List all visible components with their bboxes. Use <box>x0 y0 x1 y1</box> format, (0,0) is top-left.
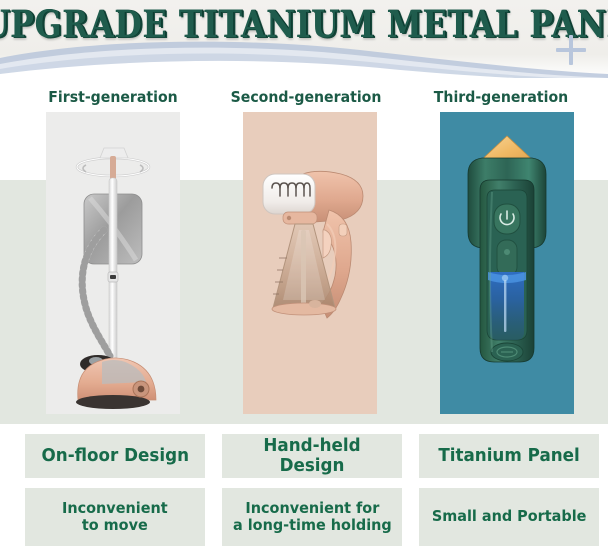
drawback-row: Inconvenient to move Inconvenient for a … <box>0 488 608 548</box>
drawback-label-third-generation: Small and Portable <box>432 508 587 525</box>
titanium-panel-handheld-steamer-icon <box>440 112 574 414</box>
column-heading-first-generation: First-generation <box>27 88 198 106</box>
feature-box-third-generation: Titanium Panel <box>419 434 599 478</box>
product-panel-third-generation <box>440 112 574 414</box>
drawback-box-second-generation: Inconvenient for a long-time holding <box>222 488 402 546</box>
plus-icon <box>556 35 586 65</box>
hand-held-steamer-with-conical-tank-icon <box>243 112 377 414</box>
feature-label-second-generation: Hand-held Design <box>232 436 392 476</box>
drawback-box-third-generation: Small and Portable <box>419 488 599 546</box>
wave-divider <box>0 38 608 78</box>
on-floor-standing-garment-steamer-icon <box>46 112 180 414</box>
feature-box-first-generation: On-floor Design <box>25 434 205 478</box>
product-panels <box>0 112 608 426</box>
column-heading-third-generation: Third-generation <box>414 88 589 106</box>
drawback-label-first-generation: Inconvenient to move <box>62 500 168 535</box>
feature-label-first-generation: On-floor Design <box>41 446 188 466</box>
drawback-box-first-generation: Inconvenient to move <box>25 488 205 546</box>
product-panel-second-generation <box>243 112 377 414</box>
product-panel-first-generation <box>46 112 180 414</box>
feature-row: On-floor Design Hand-held Design Titaniu… <box>0 434 608 478</box>
drawback-label-second-generation: Inconvenient for a long-time holding <box>233 500 392 535</box>
feature-label-third-generation: Titanium Panel <box>438 446 579 466</box>
column-headings: First-generation Second-generation Third… <box>0 88 608 110</box>
wave-divider-svg <box>0 38 608 78</box>
feature-box-second-generation: Hand-held Design <box>222 434 402 478</box>
column-heading-second-generation: Second-generation <box>220 88 393 106</box>
header-banner: UPGRADE TITANIUM METAL PANEL <box>0 0 608 78</box>
